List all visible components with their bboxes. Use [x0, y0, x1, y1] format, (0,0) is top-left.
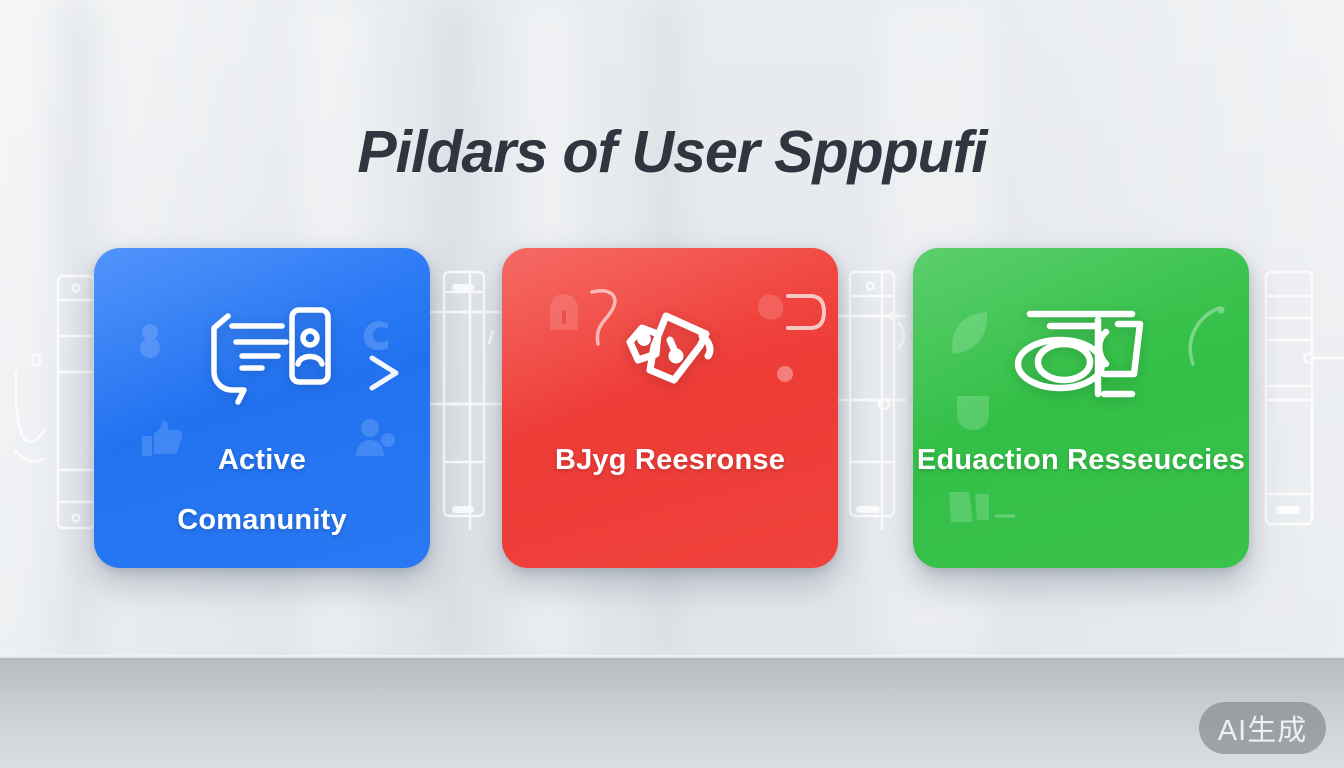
- card-row: Active Comanunity: [0, 0, 1344, 660]
- card-label-line1: Active: [94, 444, 430, 477]
- graduation-tag-icon: [502, 294, 838, 414]
- ai-generated-watermark: AI生成: [1199, 702, 1326, 754]
- poster-canvas: Pildars of User Spppufi: [0, 0, 1344, 768]
- card-label-line1: Eduaction Resseuccies: [913, 444, 1249, 477]
- chat-message-contact-icon: [94, 294, 430, 414]
- background-lower-band: [0, 658, 1344, 768]
- card-label-line1: BJyg Reesronse: [502, 444, 838, 477]
- book-leaf-icon: [913, 294, 1249, 414]
- ghost-book-icon: [941, 486, 1017, 532]
- card-label-line2: Comanunity: [94, 504, 430, 537]
- card-active-community[interactable]: Active Comanunity: [94, 248, 430, 568]
- card-bug-response[interactable]: BJyg Reesronse: [502, 248, 838, 568]
- card-education-resources[interactable]: Eduaction Resseuccies: [913, 248, 1249, 568]
- watermark-label: AI生成: [1218, 707, 1307, 749]
